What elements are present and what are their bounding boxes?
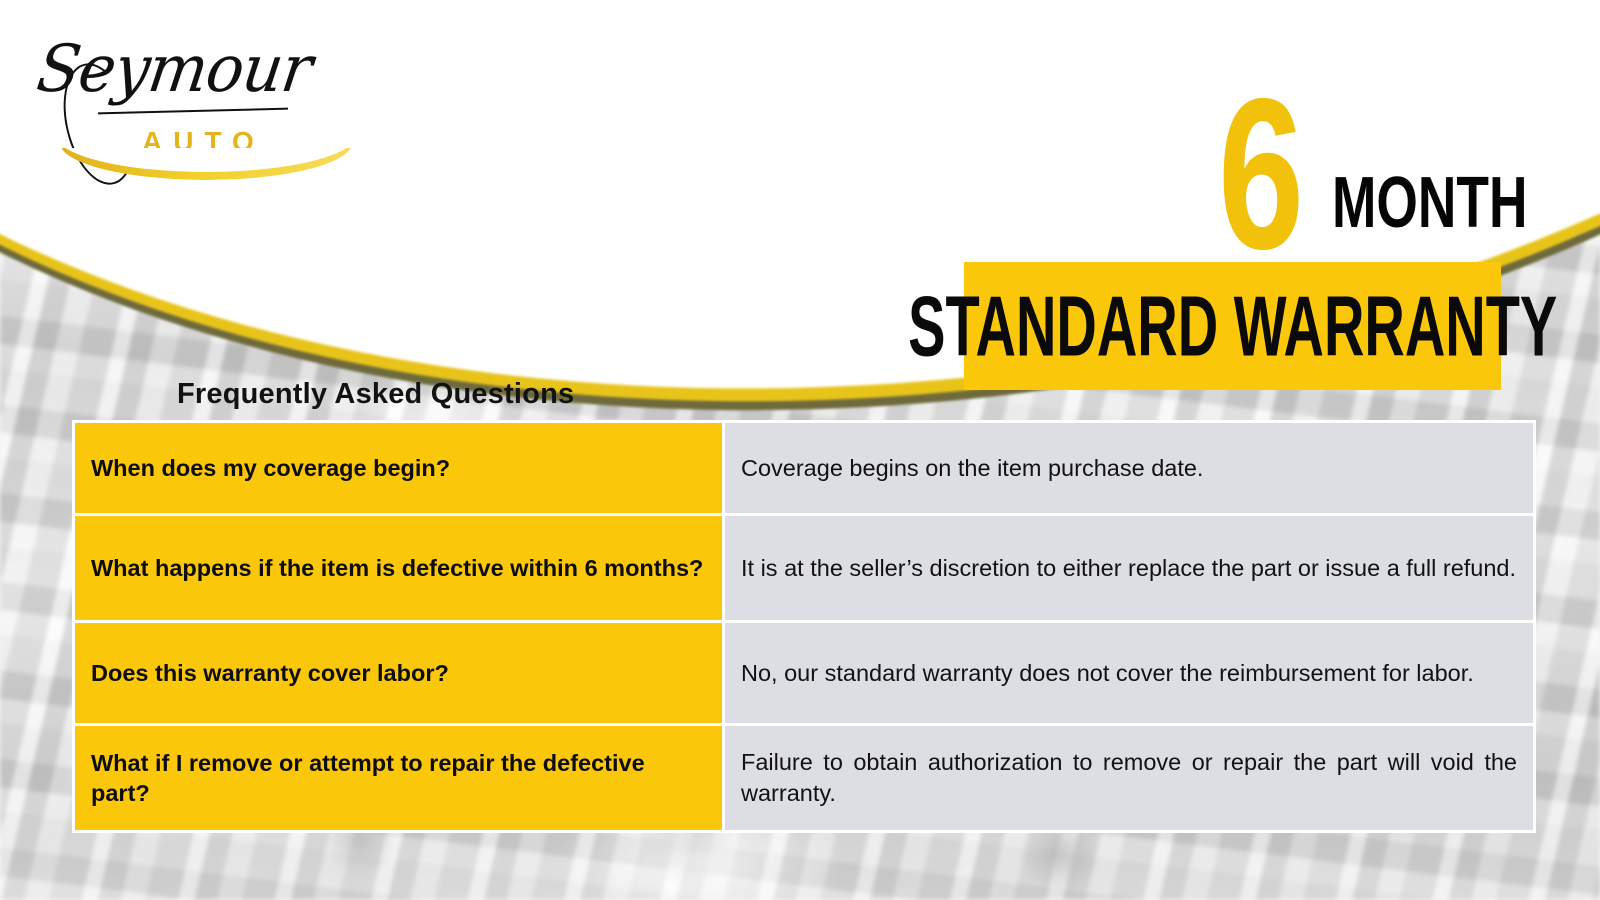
table-row: When does my coverage begin? Coverage be… (75, 423, 1533, 513)
standard-warranty-label: STANDARD WARRANTY (908, 283, 1557, 368)
logo-script-text: Seymour (33, 30, 317, 107)
faq-question: When does my coverage begin? (75, 423, 722, 513)
faq-answer: No, our standard warranty does not cover… (725, 623, 1533, 723)
duration-number: 6 (1218, 66, 1300, 281)
faq-question: Does this warranty cover labor? (75, 623, 722, 723)
seymour-auto-logo: Seymour AUTO (30, 22, 330, 177)
table-row: What if I remove or attempt to repair th… (75, 726, 1533, 830)
faq-heading: Frequently Asked Questions (177, 378, 574, 411)
warranty-slide: Seymour AUTO 6 MONTH STANDARD WARRANTY F… (0, 0, 1600, 900)
faq-table: When does my coverage begin? Coverage be… (72, 420, 1536, 833)
logo-yellow-swish-icon (60, 148, 352, 180)
table-row: Does this warranty cover labor? No, our … (75, 623, 1533, 723)
table-row: What happens if the item is defective wi… (75, 516, 1533, 620)
faq-answer: Coverage begins on the item purchase dat… (725, 423, 1533, 513)
faq-question: What if I remove or attempt to repair th… (75, 726, 722, 830)
faq-question: What happens if the item is defective wi… (75, 516, 722, 620)
duration-unit: MONTH (1332, 168, 1527, 240)
faq-answer: Failure to obtain authorization to remov… (725, 726, 1533, 830)
standard-warranty-banner: STANDARD WARRANTY (964, 262, 1501, 390)
faq-answer: It is at the seller’s discretion to eith… (725, 516, 1533, 620)
